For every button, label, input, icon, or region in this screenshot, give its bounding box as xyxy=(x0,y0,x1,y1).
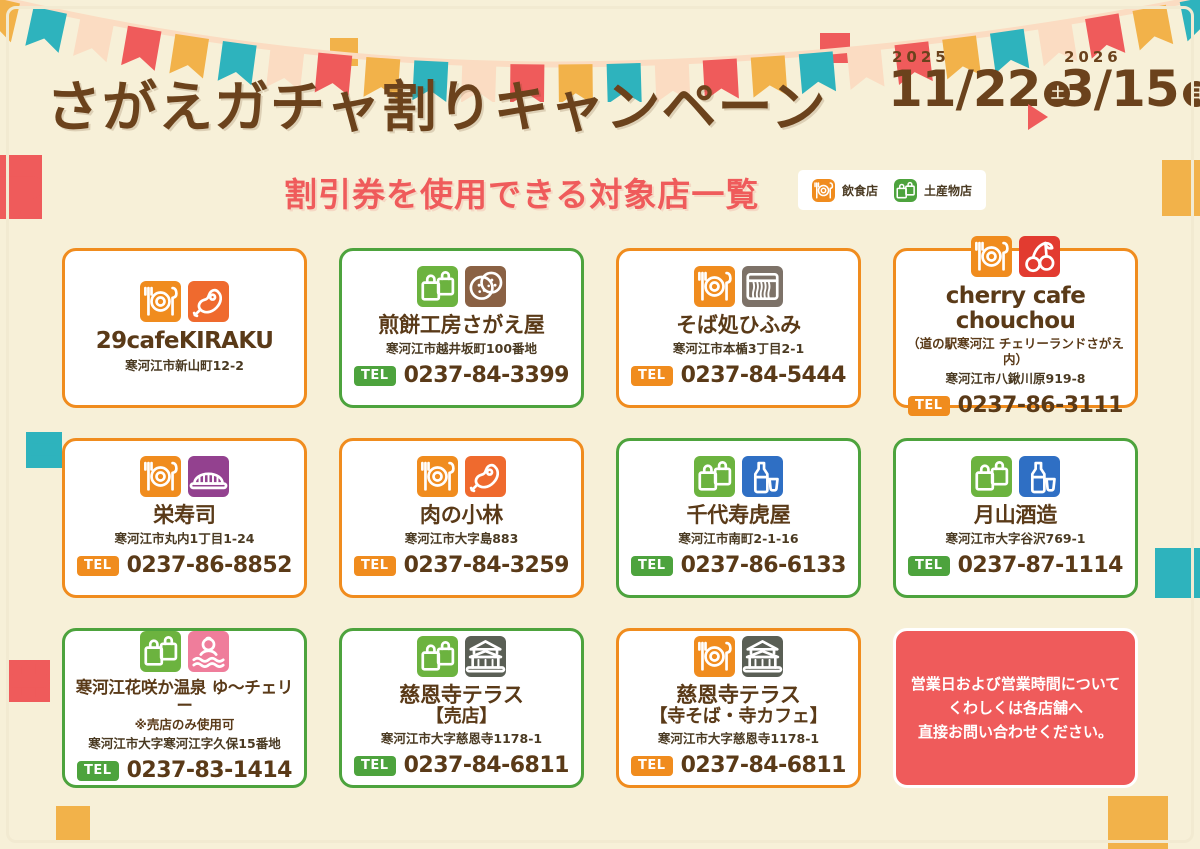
restaurant-plate-icon xyxy=(140,281,181,322)
store-category-icons xyxy=(694,456,783,497)
restaurant-plate-icon xyxy=(694,266,735,307)
souvenir-bags-icon xyxy=(971,456,1012,497)
souvenir-bags-icon xyxy=(140,631,181,672)
store-address: 寒河江市大字慈恩寺1178-1 xyxy=(381,731,542,746)
tel-badge: TEL xyxy=(77,761,119,781)
souvenir-bags-icon xyxy=(694,456,735,497)
plus-amber-bottom-left-icon xyxy=(56,806,90,840)
store-category-icons xyxy=(694,636,783,677)
store-name: 慈恩寺テラス xyxy=(399,684,523,708)
temple-icon xyxy=(742,636,783,677)
store-address: 寒河江市大字島883 xyxy=(405,531,519,546)
business-hours-notice-text: 営業日および営業時間について くわしくは各店舗へ 直接お問い合わせください。 xyxy=(911,672,1121,745)
restaurant-plate-icon xyxy=(971,236,1012,277)
restaurant-plate-icon xyxy=(694,636,735,677)
store-card[interactable]: 栄寿司寒河江市丸内1丁目1-24 TEL 0237-86-8852 xyxy=(62,438,307,598)
souvenir-bags-icon xyxy=(417,636,458,677)
store-name: そば処ひふみ xyxy=(676,314,801,338)
tel-badge: TEL xyxy=(631,366,673,386)
store-card[interactable]: 慈恩寺テラス【寺そば・寺カフェ】寒河江市大字慈恩寺1178-1 TEL 0237… xyxy=(616,628,861,788)
tel-badge: TEL xyxy=(77,556,119,576)
legend-item-souvenir: 土産物店 xyxy=(894,179,972,202)
store-tel[interactable]: TEL 0237-87-1114 xyxy=(908,553,1123,578)
store-address: 寒河江市南町2-1-16 xyxy=(678,531,798,546)
store-name: 寒河江花咲か温泉 ゆ〜チェリー xyxy=(75,679,294,716)
legend-label-souvenir: 土産物店 xyxy=(924,182,972,199)
tel-badge: TEL xyxy=(354,756,396,776)
store-category-icons xyxy=(140,281,229,322)
store-address: 寒河江市丸内1丁目1-24 xyxy=(115,531,255,546)
tel-number: 0237-84-3399 xyxy=(404,363,569,388)
cherry-icon xyxy=(1019,236,1060,277)
store-tel[interactable]: TEL 0237-84-3399 xyxy=(354,363,569,388)
plus-teal-right-icon xyxy=(1155,548,1200,598)
soba-noodles-icon xyxy=(742,266,783,307)
store-tel[interactable]: TEL 0237-84-6811 xyxy=(631,753,846,778)
restaurant-plate-icon xyxy=(140,456,181,497)
store-category-icons xyxy=(140,631,229,672)
tel-number: 0237-83-1414 xyxy=(127,758,292,783)
store-card[interactable]: 煎餅工房さがえ屋寒河江市越井坂町100番地 TEL 0237-84-3399 xyxy=(339,248,584,408)
subtitle: 割引券を使用できる対象店一覧 xyxy=(284,168,759,216)
store-card-grid: 29cafeKIRAKU寒河江市新山町12-2 煎餅工房さがえ屋寒河江市越井坂町… xyxy=(62,248,1140,788)
subtitle-row: 割引券を使用できる対象店一覧 飲食店 土産物店 xyxy=(0,170,1200,222)
store-category-icons xyxy=(971,456,1060,497)
store-name: 栄寿司 xyxy=(153,504,215,528)
store-subtitle: ※売店のみ使用可 xyxy=(135,717,235,733)
tel-number: 0237-84-5444 xyxy=(681,363,846,388)
tel-number: 0237-86-8852 xyxy=(127,553,292,578)
sake-bottle-icon xyxy=(742,456,783,497)
store-card[interactable]: 寒河江花咲か温泉 ゆ〜チェリー※売店のみ使用可寒河江市大字寒河江字久保15番地 … xyxy=(62,628,307,788)
store-card[interactable]: cherry cafe chouchou（道の駅寒河江 チェリーランドさがえ内）… xyxy=(893,248,1138,408)
tel-badge: TEL xyxy=(354,556,396,576)
tel-number: 0237-84-6811 xyxy=(681,753,846,778)
meat-ham-icon xyxy=(465,456,506,497)
tel-badge: TEL xyxy=(631,556,673,576)
store-name: cherry cafe chouchou xyxy=(906,284,1125,336)
legend-item-restaurant: 飲食店 xyxy=(812,179,878,202)
sake-bottle-icon xyxy=(1019,456,1060,497)
store-tel[interactable]: TEL 0237-84-6811 xyxy=(354,753,569,778)
tel-badge: TEL xyxy=(354,366,396,386)
plus-red-left-low-icon xyxy=(8,660,50,702)
header: さがえガチャ割りキャンペーン 2025 11/22土 2026 3/15日 xyxy=(0,62,1200,142)
store-address: 寒河江市大字慈恩寺1178-1 xyxy=(658,731,819,746)
restaurant-plate-icon xyxy=(812,179,835,202)
store-address: 寒河江市新山町12-2 xyxy=(125,358,244,373)
store-tel[interactable]: TEL 0237-83-1414 xyxy=(77,758,292,783)
date-end: 2026 3/15日 xyxy=(1060,48,1200,114)
store-tel[interactable]: TEL 0237-86-8852 xyxy=(77,553,292,578)
tel-number: 0237-86-3111 xyxy=(958,393,1123,418)
store-category-icons xyxy=(417,266,506,307)
legend: 飲食店 土産物店 xyxy=(798,170,986,210)
store-tel[interactable]: TEL 0237-84-5444 xyxy=(631,363,846,388)
date-range-arrow-icon xyxy=(1028,104,1048,130)
store-card[interactable]: 肉の小林寒河江市大字島883 TEL 0237-84-3259 xyxy=(339,438,584,598)
campaign-poster: さがえガチャ割りキャンペーン 2025 11/22土 2026 3/15日 割引… xyxy=(0,0,1200,849)
tel-badge: TEL xyxy=(631,756,673,776)
store-name: 慈恩寺テラス xyxy=(676,684,800,708)
business-hours-notice: 営業日および営業時間について くわしくは各店舗へ 直接お問い合わせください。 xyxy=(893,628,1138,788)
store-name: 月山酒造 xyxy=(974,504,1057,528)
store-card[interactable]: 慈恩寺テラス【売店】寒河江市大字慈恩寺1178-1 TEL 0237-84-68… xyxy=(339,628,584,788)
store-category-icons xyxy=(417,456,506,497)
temple-icon xyxy=(465,636,506,677)
sushi-icon xyxy=(188,456,229,497)
store-card[interactable]: 29cafeKIRAKU寒河江市新山町12-2 xyxy=(62,248,307,408)
date-start-text: 11/22 xyxy=(888,60,1040,118)
tel-badge: TEL xyxy=(908,396,950,416)
store-name: 肉の小林 xyxy=(420,504,503,528)
store-tel[interactable]: TEL 0237-84-3259 xyxy=(354,553,569,578)
store-address: 寒河江市八鍬川原919-8 xyxy=(946,371,1086,386)
store-category-icons xyxy=(694,266,783,307)
meat-ham-icon xyxy=(188,281,229,322)
tel-number: 0237-87-1114 xyxy=(958,553,1123,578)
date-end-text: 3/15 xyxy=(1060,60,1179,118)
store-address: 寒河江市大字谷沢769-1 xyxy=(946,531,1086,546)
store-category-icons xyxy=(140,456,229,497)
store-card[interactable]: 千代寿虎屋寒河江市南町2-1-16 TEL 0237-86-6133 xyxy=(616,438,861,598)
tel-number: 0237-84-6811 xyxy=(404,753,569,778)
store-name: 煎餅工房さがえ屋 xyxy=(378,314,544,338)
store-address: 寒河江市大字寒河江字久保15番地 xyxy=(88,736,280,751)
page-title: さがえガチャ割りキャンペーン xyxy=(46,62,827,142)
date-end-dow: 日 xyxy=(1183,81,1200,107)
store-name: 29cafeKIRAKU xyxy=(96,329,274,355)
tel-number: 0237-84-3259 xyxy=(404,553,569,578)
store-category-icons xyxy=(971,236,1060,277)
store-category-icons xyxy=(417,636,506,677)
tel-badge: TEL xyxy=(908,556,950,576)
onsen-bather-icon xyxy=(188,631,229,672)
store-tel[interactable]: TEL 0237-86-6133 xyxy=(631,553,846,578)
store-card[interactable]: そば処ひふみ寒河江市本楯3丁目2-1 TEL 0237-84-5444 xyxy=(616,248,861,408)
store-name: 千代寿虎屋 xyxy=(687,504,791,528)
tel-number: 0237-86-6133 xyxy=(681,553,846,578)
store-subtitle: 【寺そば・寺カフェ】 xyxy=(650,707,828,727)
store-subtitle: （道の駅寒河江 チェリーランドさがえ内） xyxy=(906,336,1125,367)
plus-amber-bottom-right-icon xyxy=(1108,796,1168,849)
souvenir-bags-icon xyxy=(894,179,917,202)
restaurant-plate-icon xyxy=(417,456,458,497)
store-card[interactable]: 月山酒造寒河江市大字谷沢769-1 TEL 0237-87-1114 xyxy=(893,438,1138,598)
legend-label-restaurant: 飲食店 xyxy=(842,182,878,199)
date-end-value: 3/15日 xyxy=(1060,66,1200,114)
store-tel[interactable]: TEL 0237-86-3111 xyxy=(908,393,1123,418)
store-address: 寒河江市本楯3丁目2-1 xyxy=(673,341,804,356)
store-subtitle: 【売店】 xyxy=(426,707,497,727)
senbei-cookie-icon xyxy=(465,266,506,307)
store-address: 寒河江市越井坂町100番地 xyxy=(386,341,537,356)
souvenir-bags-icon xyxy=(417,266,458,307)
plus-teal-left-icon xyxy=(26,432,62,468)
